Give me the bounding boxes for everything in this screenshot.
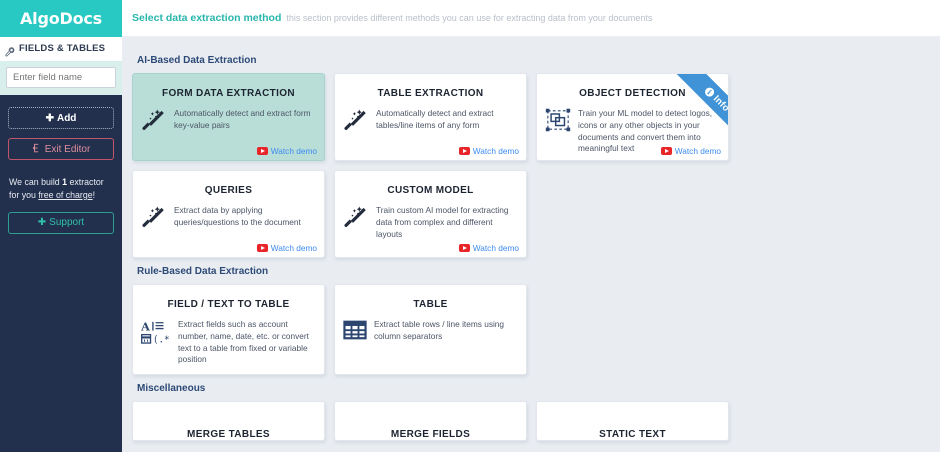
method-card-title: MERGE TABLES: [133, 402, 324, 440]
method-card-title: QUERIES: [133, 171, 324, 196]
method-sections: AI-Based Data ExtractionFORM DATA EXTRAC…: [122, 37, 940, 441]
plus-icon: ✚: [46, 113, 54, 124]
method-card-title: TABLE EXTRACTION: [335, 74, 526, 99]
method-card-title: OBJECT DETECTION: [537, 74, 728, 99]
main-area: Select data extraction method this secti…: [122, 0, 940, 452]
method-card-title: CUSTOM MODEL: [335, 171, 526, 196]
field-types-icon: [141, 319, 171, 345]
method-card-description: Extract data by applying queries/questio…: [174, 205, 316, 229]
watch-demo-label: Watch demo: [473, 146, 519, 156]
method-card[interactable]: QUERIESExtract data by applying queries/…: [132, 170, 325, 258]
method-card-title: TABLE: [335, 285, 526, 310]
topbar: Select data extraction method this secti…: [122, 0, 940, 37]
watch-demo-label: Watch demo: [675, 146, 721, 156]
magic-wand-icon: [141, 205, 167, 229]
free-of-charge-link[interactable]: free of charge: [38, 190, 92, 200]
magic-wand-icon: [141, 108, 167, 132]
extractor-quota-note: We can build 1 extractor for you free of…: [8, 176, 114, 212]
object-selection-icon: [545, 108, 571, 132]
method-card-description: Extract table rows / line items using co…: [374, 319, 518, 343]
method-card-title: FORM DATA EXTRACTION: [133, 74, 324, 99]
method-card-body: Train custom AI model for extracting dat…: [335, 196, 526, 240]
method-card-description: Automatically detect and extract tables/…: [376, 108, 518, 132]
support-button[interactable]: ✚ Support: [8, 212, 114, 234]
add-field-button[interactable]: ✚ Add: [8, 107, 114, 129]
note-prefix: We can build: [9, 177, 62, 187]
method-card[interactable]: TABLEExtract table rows / line items usi…: [334, 284, 527, 375]
fields-tables-label: FIELDS & TABLES: [19, 43, 105, 54]
page-subtitle: this section provides different methods …: [286, 13, 652, 23]
card-row: QUERIESExtract data by applying queries/…: [132, 170, 940, 258]
watch-demo-label: Watch demo: [271, 146, 317, 156]
method-card-description: Extract fields such as account number, n…: [178, 319, 316, 366]
watch-demo-link[interactable]: Watch demo: [459, 243, 519, 253]
method-card-title: MERGE FIELDS: [335, 402, 526, 440]
method-card[interactable]: FIELD / TEXT TO TABLEExtract fields such…: [132, 284, 325, 375]
card-row: FORM DATA EXTRACTIONAutomatically detect…: [132, 73, 940, 161]
logo-text: AlgoDocs: [20, 9, 102, 28]
method-card-title: FIELD / TEXT TO TABLE: [133, 285, 324, 310]
table-grid-icon: [343, 319, 367, 341]
method-card-body: Extract table rows / line items using co…: [335, 310, 526, 343]
watch-demo-label: Watch demo: [473, 243, 519, 253]
youtube-play-icon: [661, 147, 672, 155]
field-name-input[interactable]: [6, 67, 116, 88]
exit-icon: [32, 143, 42, 156]
magic-wand-icon: [343, 108, 369, 132]
field-input-band: [0, 61, 122, 95]
youtube-play-icon: [459, 147, 470, 155]
section-title: Miscellaneous: [137, 383, 940, 394]
method-card[interactable]: CUSTOM MODELTrain custom AI model for ex…: [334, 170, 527, 258]
method-card[interactable]: STATIC TEXT: [536, 401, 729, 441]
watch-demo-link[interactable]: Watch demo: [661, 146, 721, 156]
app-root: AlgoDocs FIELDS & TABLES ✚ Add: [0, 0, 940, 452]
method-card-body: Automatically detect and extract form ke…: [133, 99, 324, 132]
method-card-description: Automatically detect and extract form ke…: [174, 108, 316, 132]
method-card[interactable]: TABLE EXTRACTIONAutomatically detect and…: [334, 73, 527, 161]
card-row: MERGE TABLESMERGE FIELDSSTATIC TEXT: [132, 401, 940, 441]
watch-demo-link[interactable]: Watch demo: [257, 243, 317, 253]
watch-demo-link[interactable]: Watch demo: [257, 146, 317, 156]
method-card-body: Extract fields such as account number, n…: [133, 310, 324, 366]
sidebar: AlgoDocs FIELDS & TABLES ✚ Add: [0, 0, 122, 452]
method-card-description: Train custom AI model for extracting dat…: [376, 205, 518, 240]
watch-demo-label: Watch demo: [271, 243, 317, 253]
note-suffix: !: [93, 190, 95, 200]
fields-tables-header: FIELDS & TABLES: [0, 37, 122, 61]
method-card[interactable]: MERGE TABLES: [132, 401, 325, 441]
method-card-body: Extract data by applying queries/questio…: [133, 196, 324, 229]
method-card[interactable]: OBJECT DETECTIONTrain your ML model to d…: [536, 73, 729, 161]
method-card[interactable]: MERGE FIELDS: [334, 401, 527, 441]
section-title: Rule-Based Data Extraction: [137, 266, 940, 277]
method-card-title: STATIC TEXT: [537, 402, 728, 440]
support-label: Support: [49, 217, 84, 228]
wrench-icon: [5, 44, 15, 54]
exit-editor-button[interactable]: Exit Editor: [8, 138, 114, 160]
add-field-label: Add: [57, 113, 76, 124]
method-card[interactable]: FORM DATA EXTRACTIONAutomatically detect…: [132, 73, 325, 161]
exit-editor-label: Exit Editor: [45, 144, 91, 155]
page-title: Select data extraction method: [132, 12, 281, 24]
card-row: FIELD / TEXT TO TABLEExtract fields such…: [132, 284, 940, 375]
youtube-play-icon: [257, 244, 268, 252]
fields-tables-panel: FIELDS & TABLES: [0, 37, 122, 95]
youtube-play-icon: [459, 244, 470, 252]
sidebar-actions: ✚ Add Exit Editor We can build 1 extract…: [0, 95, 122, 234]
section-title: AI-Based Data Extraction: [137, 55, 940, 66]
magic-wand-icon: [343, 205, 369, 229]
method-card-body: Automatically detect and extract tables/…: [335, 99, 526, 132]
life-ring-icon: ✚: [38, 217, 46, 228]
youtube-play-icon: [257, 147, 268, 155]
watch-demo-link[interactable]: Watch demo: [459, 146, 519, 156]
logo[interactable]: AlgoDocs: [0, 0, 122, 37]
